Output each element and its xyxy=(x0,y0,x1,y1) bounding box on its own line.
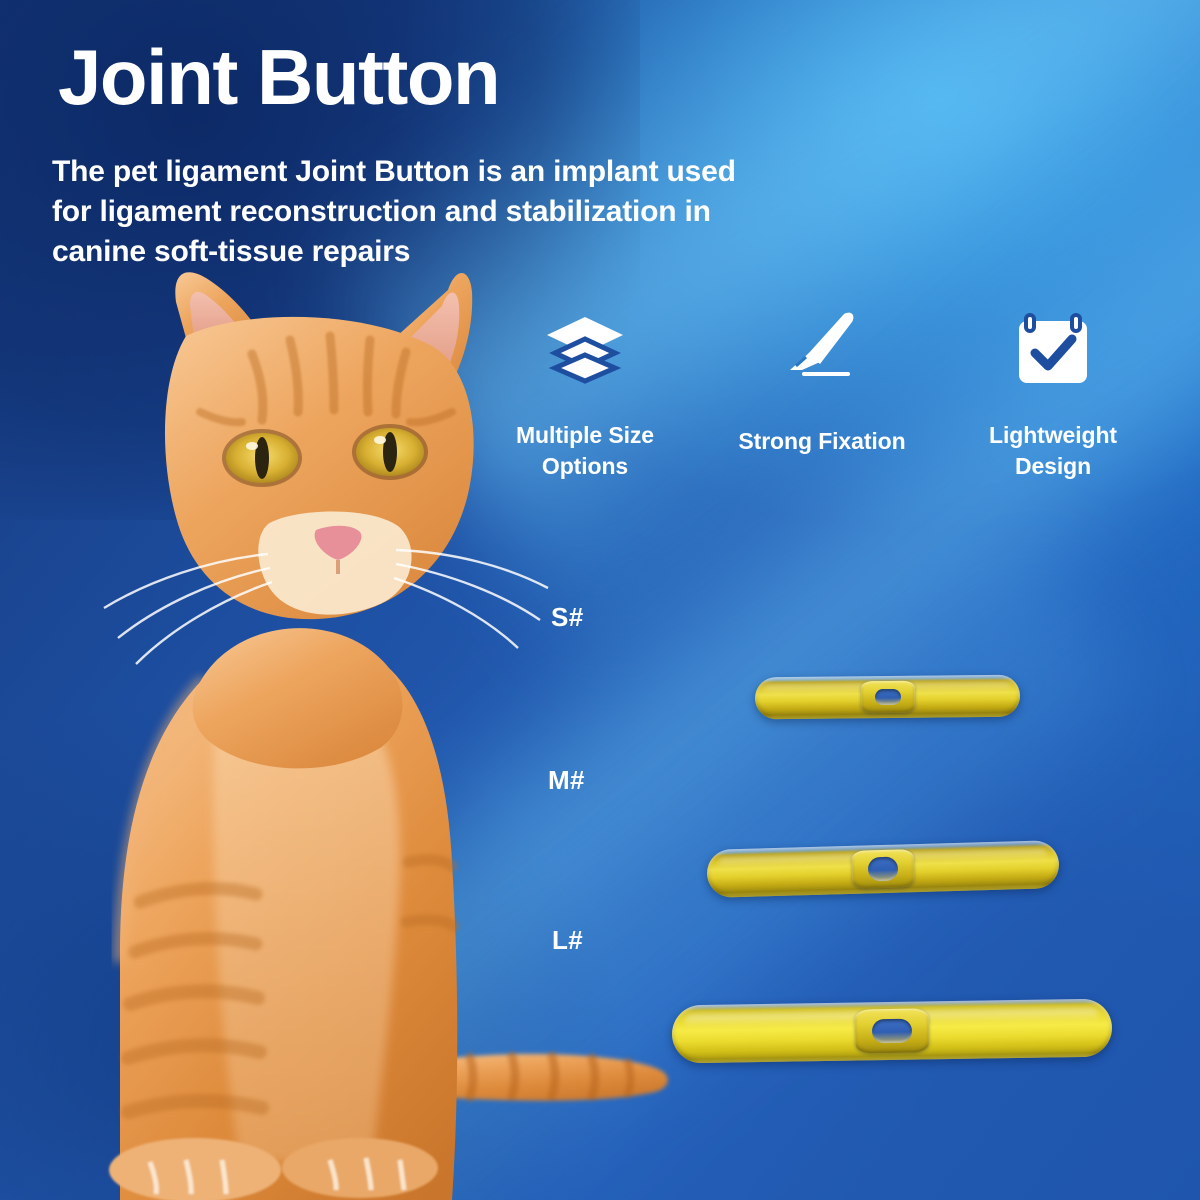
page-subtitle: The pet ligament Joint Button is an impl… xyxy=(52,152,892,272)
subtitle-line-2: for ligament reconstruction and stabiliz… xyxy=(52,192,892,232)
feature-row: Multiple Size Options Strong Fixation xyxy=(480,306,1180,506)
implant-suture-hole xyxy=(874,689,900,705)
size-label-small: S# xyxy=(551,602,584,633)
cat-neck xyxy=(193,628,403,768)
implant-center-boss xyxy=(860,681,914,714)
implant-center-boss xyxy=(855,1008,930,1053)
feature-label-strong-fixation: Strong Fixation xyxy=(717,426,927,457)
feature-label-line-1: Strong Fixation xyxy=(717,426,927,457)
implant-suture-hole xyxy=(872,1019,912,1044)
feature-lightweight-design: Lightweight Design xyxy=(948,306,1158,482)
feature-label-line-1: Lightweight xyxy=(948,420,1158,451)
joint-button-implant-small xyxy=(755,675,1020,720)
feature-label-multiple-size-options: Multiple Size Options xyxy=(480,420,690,482)
feature-label-line-2: Options xyxy=(480,451,690,482)
feature-multiple-size-options: Multiple Size Options xyxy=(480,306,690,482)
size-label-medium: M# xyxy=(548,765,585,796)
joint-button-implant-large xyxy=(672,999,1113,1064)
joint-button-implant-medium xyxy=(706,840,1059,898)
page-title: Joint Button xyxy=(58,38,499,116)
size-label-large: L# xyxy=(552,925,583,956)
subtitle-line-1: The pet ligament Joint Button is an impl… xyxy=(52,152,892,192)
implant-suture-hole xyxy=(868,857,899,882)
product-banner: Joint Button The pet ligament Joint Butt… xyxy=(0,0,1200,1200)
feature-strong-fixation: Strong Fixation xyxy=(717,306,927,457)
calendar-check-icon xyxy=(948,306,1158,392)
feature-label-line-1: Multiple Size xyxy=(480,420,690,451)
feature-label-lightweight-design: Lightweight Design xyxy=(948,420,1158,482)
feature-label-line-2: Design xyxy=(948,451,1158,482)
implant-center-boss xyxy=(851,849,914,889)
layers-icon xyxy=(480,306,690,392)
scalpel-icon xyxy=(717,306,927,386)
